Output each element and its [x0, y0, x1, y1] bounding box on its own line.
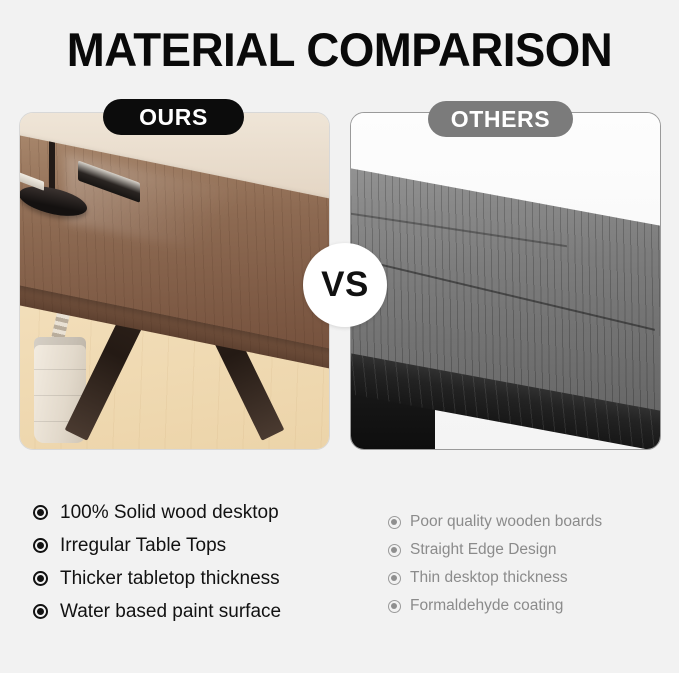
list-item-label: Poor quality wooden boards	[410, 513, 602, 531]
list-item-label: Irregular Table Tops	[60, 535, 226, 557]
bullet-radio-icon	[33, 604, 48, 619]
list-item: Straight Edge Design	[388, 536, 602, 564]
list-item: Thicker tabletop thickness	[33, 562, 281, 595]
ours-image-panel	[19, 112, 330, 450]
bullet-radio-icon	[388, 544, 401, 557]
list-item-label: Thin desktop thickness	[410, 569, 568, 587]
bullet-radio-icon	[33, 571, 48, 586]
list-item: Poor quality wooden boards	[388, 508, 602, 536]
badge-others: OTHERS	[428, 101, 573, 137]
list-item: Irregular Table Tops	[33, 529, 281, 562]
list-item: Thin desktop thickness	[388, 564, 602, 592]
others-feature-list: Poor quality wooden boards Straight Edge…	[388, 508, 602, 620]
bullet-radio-icon	[33, 505, 48, 520]
list-item-label: Water based paint surface	[60, 601, 281, 623]
list-item: 100% Solid wood desktop	[33, 496, 281, 529]
ours-feature-list: 100% Solid wood desktop Irregular Table …	[33, 496, 281, 628]
vs-badge: VS	[303, 243, 387, 327]
list-item-label: Thicker tabletop thickness	[60, 568, 280, 590]
others-image-panel	[350, 112, 661, 450]
bullet-radio-icon	[33, 538, 48, 553]
list-item-label: 100% Solid wood desktop	[60, 502, 279, 524]
list-item-label: Straight Edge Design	[410, 541, 556, 559]
badge-ours: OURS	[103, 99, 244, 135]
list-item-label: Formaldehyde coating	[410, 597, 563, 615]
bullet-radio-icon	[388, 572, 401, 585]
bullet-radio-icon	[388, 516, 401, 529]
list-item: Formaldehyde coating	[388, 592, 602, 620]
list-item: Water based paint surface	[33, 595, 281, 628]
page-title: MATERIAL COMPARISON	[10, 22, 669, 77]
bullet-radio-icon	[388, 600, 401, 613]
